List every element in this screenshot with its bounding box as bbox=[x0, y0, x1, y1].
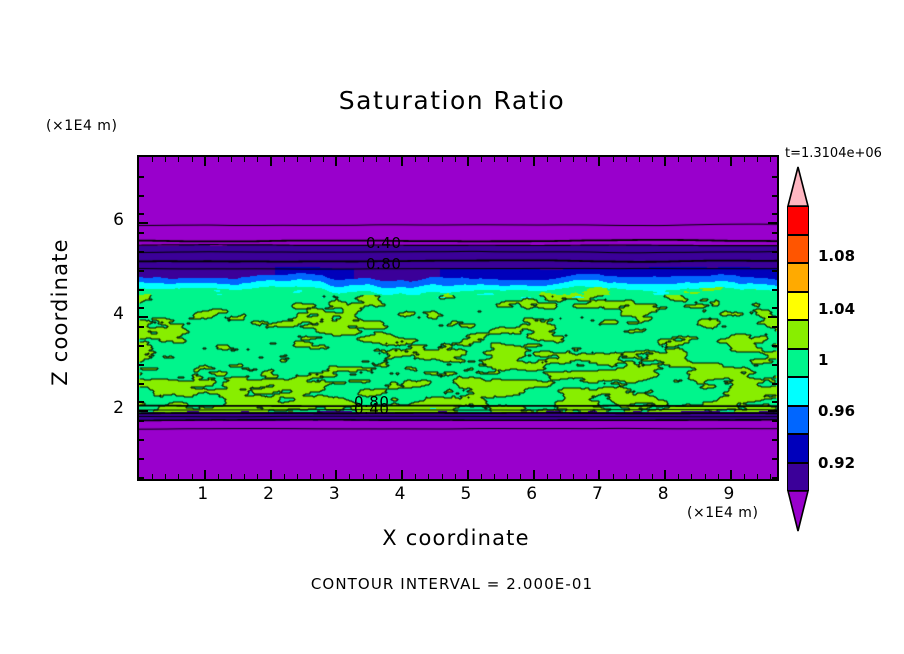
contour-value-label: 0.40 bbox=[354, 400, 389, 418]
y-axis-minor-tick bbox=[772, 364, 777, 366]
x-axis-minor-tick bbox=[455, 474, 456, 479]
y-axis-minor-tick bbox=[772, 176, 777, 178]
colorbar-tick-label: 0.96 bbox=[818, 402, 855, 420]
x-axis-minor-tick bbox=[705, 474, 706, 479]
x-axis-tick bbox=[467, 157, 469, 166]
page-title: Saturation Ratio bbox=[0, 86, 904, 115]
x-axis-minor-tick bbox=[652, 474, 653, 479]
y-axis-tick bbox=[768, 410, 777, 412]
x-axis-minor-tick bbox=[297, 474, 298, 479]
x-axis-minor-tick bbox=[744, 157, 745, 162]
x-axis-tick bbox=[533, 470, 535, 479]
y-axis-minor-tick bbox=[139, 439, 144, 441]
x-tick-label: 5 bbox=[451, 484, 481, 504]
x-axis-minor-tick bbox=[757, 157, 758, 162]
y-axis-minor-tick bbox=[772, 420, 777, 422]
x-axis-tick bbox=[467, 470, 469, 479]
y-axis-minor-tick bbox=[139, 213, 144, 215]
x-axis-minor-tick bbox=[389, 474, 390, 479]
x-axis-tick bbox=[730, 157, 732, 166]
x-axis-minor-tick bbox=[442, 474, 443, 479]
colorbar-upper-cap bbox=[787, 166, 809, 207]
contour-interval-note: CONTOUR INTERVAL = 2.000E-01 bbox=[0, 575, 904, 593]
x-axis-tick bbox=[204, 470, 206, 479]
contour-value-label: 0.80 bbox=[366, 255, 401, 273]
x-axis-minor-tick bbox=[718, 474, 719, 479]
x-axis-minor-tick bbox=[231, 474, 232, 479]
y-axis-minor-tick bbox=[139, 345, 144, 347]
x-axis-minor-tick bbox=[297, 157, 298, 162]
y-axis-minor-tick bbox=[139, 364, 144, 366]
x-axis-minor-tick bbox=[613, 474, 614, 479]
y-axis-minor-tick bbox=[139, 289, 144, 291]
x-axis-tick bbox=[401, 157, 403, 166]
y-axis-unit-label: (×1E4 m) bbox=[46, 118, 117, 134]
x-axis-minor-tick bbox=[428, 157, 429, 162]
x-tick-label: 1 bbox=[188, 484, 218, 504]
x-axis-unit-label: (×1E4 m) bbox=[687, 505, 758, 521]
x-axis-minor-tick bbox=[363, 474, 364, 479]
x-axis-tick bbox=[664, 157, 666, 166]
colorbar-band bbox=[787, 463, 809, 492]
x-axis-minor-tick bbox=[218, 474, 219, 479]
x-axis-minor-tick bbox=[626, 157, 627, 162]
y-tick-label: 4 bbox=[98, 304, 124, 324]
contour-value-label: 0.40 bbox=[366, 234, 401, 252]
y-axis-minor-tick bbox=[139, 401, 144, 403]
colorbar-band bbox=[787, 349, 809, 378]
x-axis-minor-tick bbox=[573, 157, 574, 162]
x-axis-minor-tick bbox=[455, 157, 456, 162]
y-axis-tick bbox=[768, 316, 777, 318]
colorbar-band bbox=[787, 235, 809, 264]
y-axis-minor-tick bbox=[139, 195, 144, 197]
colorbar-band bbox=[787, 320, 809, 349]
x-tick-label: 3 bbox=[319, 484, 349, 504]
y-axis-minor-tick bbox=[772, 477, 777, 479]
x-axis-minor-tick bbox=[310, 157, 311, 162]
y-axis-minor-tick bbox=[139, 420, 144, 422]
x-axis-minor-tick bbox=[415, 474, 416, 479]
x-axis-tick bbox=[664, 470, 666, 479]
colorbar bbox=[787, 206, 809, 491]
x-axis-minor-tick bbox=[257, 157, 258, 162]
y-axis-minor-tick bbox=[139, 307, 144, 309]
x-axis-minor-tick bbox=[284, 474, 285, 479]
x-axis-minor-tick bbox=[560, 474, 561, 479]
x-axis-tick bbox=[204, 157, 206, 166]
x-axis-minor-tick bbox=[494, 474, 495, 479]
saturation-ratio-field bbox=[139, 157, 777, 479]
x-tick-label: 2 bbox=[254, 484, 284, 504]
y-tick-label: 2 bbox=[98, 398, 124, 418]
y-axis-minor-tick bbox=[772, 289, 777, 291]
x-axis-minor-tick bbox=[165, 474, 166, 479]
x-axis-minor-tick bbox=[152, 474, 153, 479]
x-axis-minor-tick bbox=[547, 474, 548, 479]
colorbar-band bbox=[787, 406, 809, 435]
y-axis-minor-tick bbox=[139, 326, 144, 328]
x-axis-tick bbox=[401, 470, 403, 479]
x-axis-minor-tick bbox=[218, 157, 219, 162]
x-axis-tick bbox=[270, 157, 272, 166]
y-axis-minor-tick bbox=[772, 326, 777, 328]
colorbar-band bbox=[787, 377, 809, 406]
y-axis-minor-tick bbox=[139, 232, 144, 234]
x-axis-tick bbox=[270, 470, 272, 479]
y-tick-label: 6 bbox=[98, 210, 124, 230]
x-axis-minor-tick bbox=[678, 474, 679, 479]
y-axis-minor-tick bbox=[772, 383, 777, 385]
x-axis-minor-tick bbox=[573, 474, 574, 479]
x-tick-label: 9 bbox=[714, 484, 744, 504]
x-axis-minor-tick bbox=[376, 474, 377, 479]
x-axis-minor-tick bbox=[323, 474, 324, 479]
x-axis-title: X coordinate bbox=[137, 526, 775, 550]
x-axis-minor-tick bbox=[757, 474, 758, 479]
x-axis-minor-tick bbox=[363, 157, 364, 162]
x-axis-minor-tick bbox=[284, 157, 285, 162]
colorbar-band bbox=[787, 206, 809, 235]
x-axis-minor-tick bbox=[770, 157, 771, 162]
x-axis-minor-tick bbox=[481, 474, 482, 479]
x-axis-minor-tick bbox=[586, 474, 587, 479]
x-axis-minor-tick bbox=[257, 474, 258, 479]
x-axis-tick bbox=[598, 470, 600, 479]
colorbar-tick-label: 1.04 bbox=[818, 300, 855, 318]
x-axis-minor-tick bbox=[415, 157, 416, 162]
x-axis-minor-tick bbox=[639, 157, 640, 162]
y-axis-minor-tick bbox=[772, 439, 777, 441]
x-axis-minor-tick bbox=[442, 157, 443, 162]
x-axis-minor-tick bbox=[520, 157, 521, 162]
x-axis-tick bbox=[598, 157, 600, 166]
x-axis-minor-tick bbox=[349, 157, 350, 162]
x-axis-tick bbox=[730, 470, 732, 479]
colorbar-band bbox=[787, 263, 809, 292]
y-axis-tick bbox=[139, 222, 148, 224]
colorbar-band bbox=[787, 292, 809, 321]
x-axis-minor-tick bbox=[323, 157, 324, 162]
x-axis-minor-tick bbox=[626, 474, 627, 479]
x-axis-minor-tick bbox=[494, 157, 495, 162]
x-axis-minor-tick bbox=[718, 157, 719, 162]
y-axis-minor-tick bbox=[772, 213, 777, 215]
y-axis-minor-tick bbox=[772, 345, 777, 347]
y-axis-minor-tick bbox=[772, 251, 777, 253]
x-tick-label: 8 bbox=[648, 484, 678, 504]
y-axis-tick bbox=[139, 410, 148, 412]
y-axis-tick bbox=[768, 222, 777, 224]
x-axis-minor-tick bbox=[507, 157, 508, 162]
x-axis-minor-tick bbox=[520, 474, 521, 479]
y-axis-minor-tick bbox=[139, 176, 144, 178]
x-axis-minor-tick bbox=[652, 157, 653, 162]
y-axis-minor-tick bbox=[772, 458, 777, 460]
y-axis-minor-tick bbox=[139, 270, 144, 272]
x-axis-minor-tick bbox=[481, 157, 482, 162]
x-axis-minor-tick bbox=[586, 157, 587, 162]
x-axis-minor-tick bbox=[389, 157, 390, 162]
x-axis-minor-tick bbox=[560, 157, 561, 162]
y-axis-minor-tick bbox=[772, 307, 777, 309]
x-axis-minor-tick bbox=[678, 157, 679, 162]
colorbar-tick-label: 1.08 bbox=[818, 247, 855, 265]
colorbar-tick-label: 0.92 bbox=[818, 454, 855, 472]
x-axis-tick bbox=[335, 157, 337, 166]
x-axis-minor-tick bbox=[178, 157, 179, 162]
x-axis-minor-tick bbox=[192, 474, 193, 479]
y-axis-title: Z coordinate bbox=[48, 212, 72, 412]
x-axis-minor-tick bbox=[244, 474, 245, 479]
x-axis-minor-tick bbox=[639, 474, 640, 479]
x-axis-tick bbox=[335, 470, 337, 479]
x-axis-minor-tick bbox=[691, 157, 692, 162]
colorbar-lower-cap bbox=[787, 490, 809, 532]
y-axis-minor-tick bbox=[772, 401, 777, 403]
x-axis-tick bbox=[533, 157, 535, 166]
x-axis-minor-tick bbox=[178, 474, 179, 479]
x-axis-minor-tick bbox=[349, 474, 350, 479]
contour-plot-frame: 0.400.800.800.40 bbox=[137, 155, 779, 481]
x-axis-minor-tick bbox=[691, 474, 692, 479]
x-tick-label: 4 bbox=[385, 484, 415, 504]
colorbar-tick-label: 1 bbox=[818, 351, 828, 369]
x-axis-minor-tick bbox=[310, 474, 311, 479]
x-axis-minor-tick bbox=[192, 157, 193, 162]
colorbar-band bbox=[787, 434, 809, 463]
x-axis-minor-tick bbox=[165, 157, 166, 162]
y-axis-minor-tick bbox=[772, 270, 777, 272]
x-tick-label: 7 bbox=[582, 484, 612, 504]
y-axis-minor-tick bbox=[139, 251, 144, 253]
x-axis-minor-tick bbox=[507, 474, 508, 479]
y-axis-minor-tick bbox=[139, 458, 144, 460]
x-axis-minor-tick bbox=[231, 157, 232, 162]
y-axis-minor-tick bbox=[139, 477, 144, 479]
y-axis-tick bbox=[139, 316, 148, 318]
x-axis-minor-tick bbox=[547, 157, 548, 162]
x-axis-minor-tick bbox=[244, 157, 245, 162]
x-axis-minor-tick bbox=[613, 157, 614, 162]
y-axis-minor-tick bbox=[772, 195, 777, 197]
x-axis-minor-tick bbox=[376, 157, 377, 162]
x-axis-minor-tick bbox=[744, 474, 745, 479]
time-stamp-label: t=1.3104e+06 bbox=[785, 146, 882, 161]
x-tick-label: 6 bbox=[517, 484, 547, 504]
x-axis-minor-tick bbox=[428, 474, 429, 479]
x-axis-minor-tick bbox=[705, 157, 706, 162]
x-axis-minor-tick bbox=[152, 157, 153, 162]
y-axis-minor-tick bbox=[772, 232, 777, 234]
y-axis-minor-tick bbox=[139, 383, 144, 385]
